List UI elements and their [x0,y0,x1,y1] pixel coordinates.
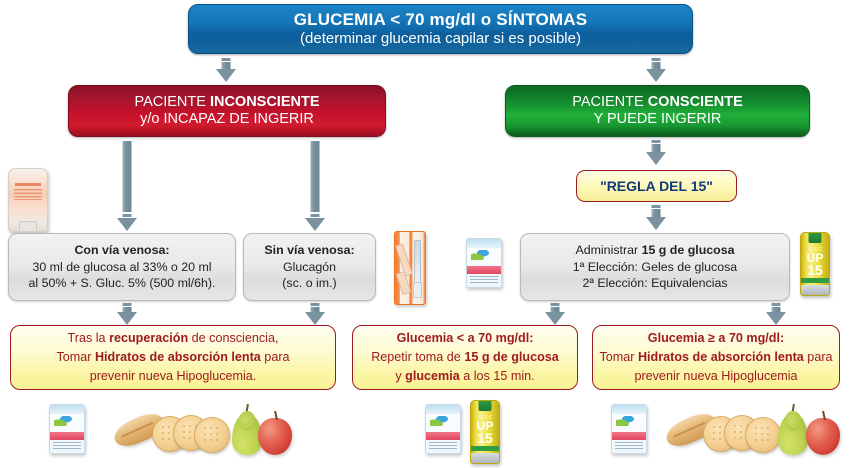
header-line-2: (determinar glucemia capilar si es posib… [300,30,581,47]
flowchart-canvas: GLUCEMIA < 70 mg/dl o SÍNTOMAS (determin… [0,0,850,468]
outcome-2-line-3: y glucemia a los 15 min. [395,367,534,386]
arrow-header-to-inconsciente [216,58,236,84]
branch-left-line-2: y/o INCAPAZ DE INGERIR [140,111,314,128]
arrow-con-via-to-outcome [117,303,137,327]
administrar-heading: Administrar 15 g de glucosa [575,242,734,259]
administrar-line-1: 1ª Elección: Geles de glucosa [573,259,737,276]
branch-right-line-2: Y PUEDE INGERIR [594,111,722,128]
arrow-regla-to-administrar [646,205,666,233]
outcome-3-line-3: prevenir nueva Hipoglucemia [634,367,797,386]
glucose-bottle-image-mid: GLUC UP 15 [800,232,830,296]
arrow-to-con-via-venosa [117,141,137,231]
header-line-1: GLUCEMIA < 70 mg/dl o SÍNTOMAS [294,11,588,30]
iv-fluid-bag-image [8,168,48,232]
branch-box-consciente: PACIENTE CONSCIENTE Y PUEDE INGERIR [505,85,810,137]
arrow-administrar-to-outcome-normal [766,303,786,327]
outcome-1-line-3: prevenir nueva Hipoglucemia. [90,367,257,386]
glucose-gel-pack-image-mid [466,238,502,288]
outcome-3-line-2: Tomar Hidratos de absorción lenta para [599,348,832,367]
glucagon-emergency-kit-image [394,231,426,305]
arrow-sin-via-to-outcome [305,303,325,327]
con-via-venosa-line-2: al 50% + S. Gluc. 5% (500 ml/6h). [29,275,216,292]
sin-via-venosa-heading: Sin vía venosa: [264,242,354,259]
outcome-2-line-1: Glucemia < a 70 mg/dl: [397,329,534,348]
sin-via-venosa-line-1: Glucagón [283,259,336,276]
glucose-bottle-image-bottom-middle: GLUC UP 15 [470,400,500,464]
apple-image-left [258,418,292,455]
apple-image-right [806,418,840,455]
glucose-gel-pack-image-bottom-left [49,404,85,454]
administrar-line-2: 2ª Elección: Equivalencias [582,275,727,292]
bottle-number: 15 [471,431,499,445]
regla-del-15-box: "REGLA DEL 15" [576,170,737,202]
outcome-2-line-2: Repetir toma de 15 g de glucosa [371,348,559,367]
regla-del-15-label: "REGLA DEL 15" [600,178,713,194]
con-via-venosa-line-1: 30 ml de glucosa al 33% o 20 ml [32,259,211,276]
arrow-header-to-consciente [646,58,666,84]
con-via-venosa-heading: Con vía venosa: [74,242,169,259]
glucose-gel-pack-image-bottom-right [611,404,647,454]
outcome-box-glucemia-baja: Glucemia < a 70 mg/dl: Repetir toma de 1… [352,325,578,390]
gray-box-con-via-venosa: Con vía venosa: 30 ml de glucosa al 33% … [8,233,236,301]
bottle-number: 15 [801,263,829,277]
gray-box-administrar-glucosa: Administrar 15 g de glucosa 1ª Elección:… [520,233,790,301]
arrow-to-regla-del-15 [646,140,666,168]
branch-box-inconsciente: PACIENTE INCONSCIENTE y/o INCAPAZ DE ING… [68,85,386,137]
gray-box-sin-via-venosa: Sin vía venosa: Glucagón (sc. o im.) [243,233,376,301]
header-box-glucemia: GLUCEMIA < 70 mg/dl o SÍNTOMAS (determin… [188,4,693,54]
outcome-3-line-1: Glucemia ≥ a 70 mg/dl: [648,329,784,348]
arrow-to-sin-via-venosa [305,141,325,231]
branch-right-line-1: PACIENTE CONSCIENTE [572,94,743,111]
outcome-1-line-2: Tomar Hidratos de absorción lenta para [56,348,289,367]
branch-left-line-1: PACIENTE INCONSCIENTE [134,94,319,111]
outcome-box-glucemia-normal: Glucemia ≥ a 70 mg/dl: Tomar Hidratos de… [592,325,840,390]
glucose-gel-pack-image-bottom-middle [425,404,461,454]
outcome-1-line-1: Tras la recuperación de consciencia, [68,329,279,348]
sin-via-venosa-line-2: (sc. o im.) [282,275,336,292]
outcome-box-recuperacion: Tras la recuperación de consciencia, Tom… [10,325,336,390]
arrow-administrar-to-outcome-baja [545,303,565,327]
